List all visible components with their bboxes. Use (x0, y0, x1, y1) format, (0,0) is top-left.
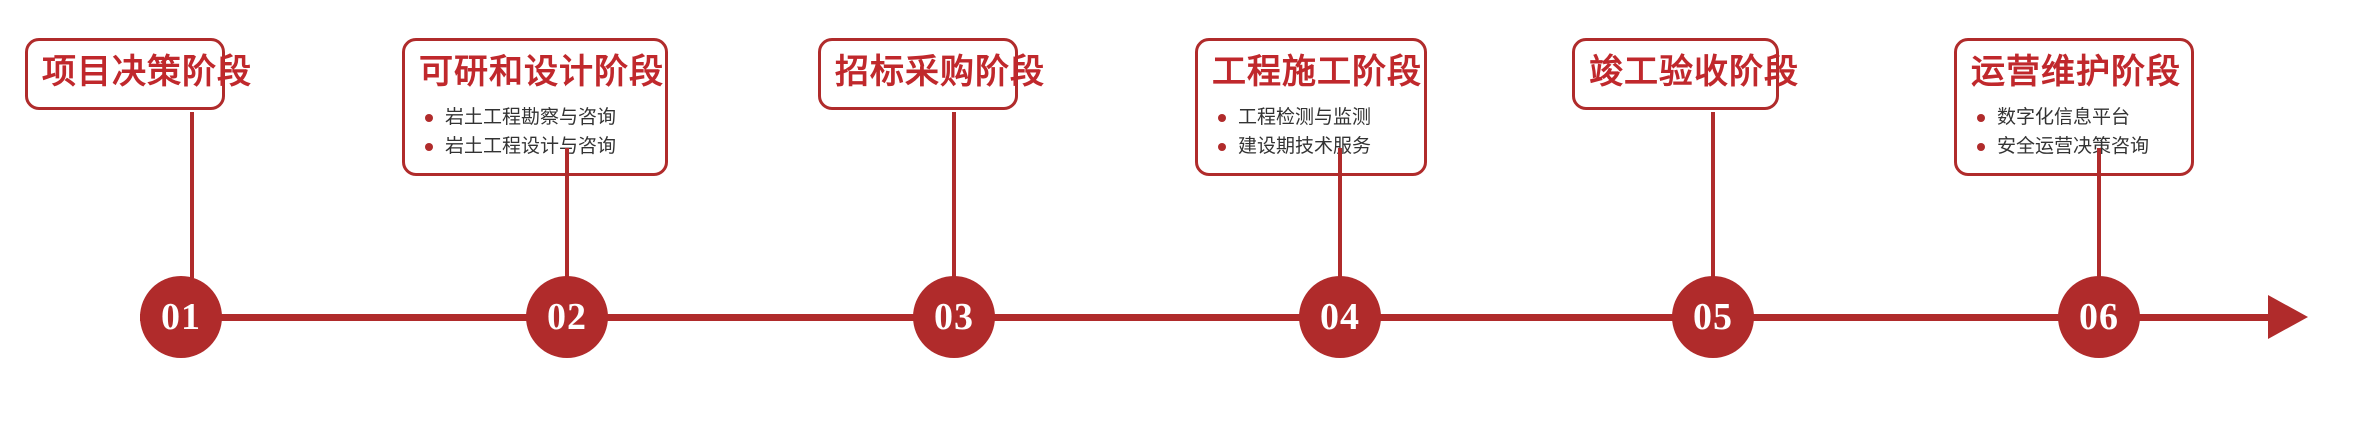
bullet-text: 安全运营决策咨询 (1997, 136, 2149, 157)
bullet-dot-icon (1977, 143, 1985, 151)
bullet-text: 数字化信息平台 (1997, 107, 2130, 128)
bullet-dot-icon (1218, 114, 1226, 122)
stage-number: 05 (1693, 298, 1733, 336)
bullet-text: 岩土工程设计与咨询 (445, 136, 616, 157)
bullet-dot-icon (1977, 114, 1985, 122)
bullet-text: 建设期技术服务 (1238, 136, 1371, 157)
stage-bullet-list: 数字化信息平台 安全运营决策咨询 (1971, 103, 2177, 162)
stage-bullet-list: 工程检测与监测 建设期技术服务 (1212, 103, 1410, 162)
list-item: 安全运营决策咨询 (1975, 132, 2177, 161)
stage-node-01[interactable]: 01 (140, 276, 222, 358)
stage-stem-06 (2097, 148, 2101, 278)
stage-node-06[interactable]: 06 (2058, 276, 2140, 358)
stage-card-01[interactable]: 项目决策阶段 (25, 38, 225, 110)
list-item: 工程检测与监测 (1216, 103, 1410, 132)
list-item: 建设期技术服务 (1216, 132, 1410, 161)
bullet-dot-icon (425, 114, 433, 122)
stage-title: 运营维护阶段 (1971, 51, 2177, 95)
stage-number: 06 (2079, 298, 2119, 336)
bullet-dot-icon (1218, 143, 1226, 151)
stage-card-04[interactable]: 工程施工阶段 工程检测与监测 建设期技术服务 (1195, 38, 1427, 176)
stage-stem-05 (1711, 112, 1715, 278)
timeline-arrow-icon (2268, 295, 2308, 339)
stage-title: 可研和设计阶段 (419, 51, 651, 95)
stage-stem-01 (190, 112, 194, 278)
stage-title: 招标采购阶段 (835, 51, 1001, 95)
timeline-diagram: 项目决策阶段 01 可研和设计阶段 岩土工程勘察与咨询 岩土工程设计与咨询 02… (0, 0, 2362, 441)
list-item: 岩土工程勘察与咨询 (423, 103, 651, 132)
stage-title: 项目决策阶段 (42, 51, 208, 95)
stage-node-05[interactable]: 05 (1672, 276, 1754, 358)
stage-title: 竣工验收阶段 (1589, 51, 1762, 95)
stage-number: 03 (934, 298, 974, 336)
stage-number: 02 (547, 298, 587, 336)
stage-bullet-list: 岩土工程勘察与咨询 岩土工程设计与咨询 (419, 103, 651, 162)
stage-card-05[interactable]: 竣工验收阶段 (1572, 38, 1779, 110)
stage-node-03[interactable]: 03 (913, 276, 995, 358)
stage-stem-02 (565, 148, 569, 278)
stage-node-02[interactable]: 02 (526, 276, 608, 358)
stage-title: 工程施工阶段 (1212, 51, 1410, 95)
stage-card-06[interactable]: 运营维护阶段 数字化信息平台 安全运营决策咨询 (1954, 38, 2194, 176)
timeline-axis-line (140, 314, 2280, 321)
stage-stem-04 (1338, 148, 1342, 278)
stage-node-04[interactable]: 04 (1299, 276, 1381, 358)
stage-number: 04 (1320, 298, 1360, 336)
stage-card-03[interactable]: 招标采购阶段 (818, 38, 1018, 110)
stage-card-02[interactable]: 可研和设计阶段 岩土工程勘察与咨询 岩土工程设计与咨询 (402, 38, 668, 176)
stage-stem-03 (952, 112, 956, 278)
stage-number: 01 (161, 298, 201, 336)
bullet-text: 岩土工程勘察与咨询 (445, 107, 616, 128)
list-item: 数字化信息平台 (1975, 103, 2177, 132)
bullet-dot-icon (425, 143, 433, 151)
list-item: 岩土工程设计与咨询 (423, 132, 651, 161)
bullet-text: 工程检测与监测 (1238, 107, 1371, 128)
